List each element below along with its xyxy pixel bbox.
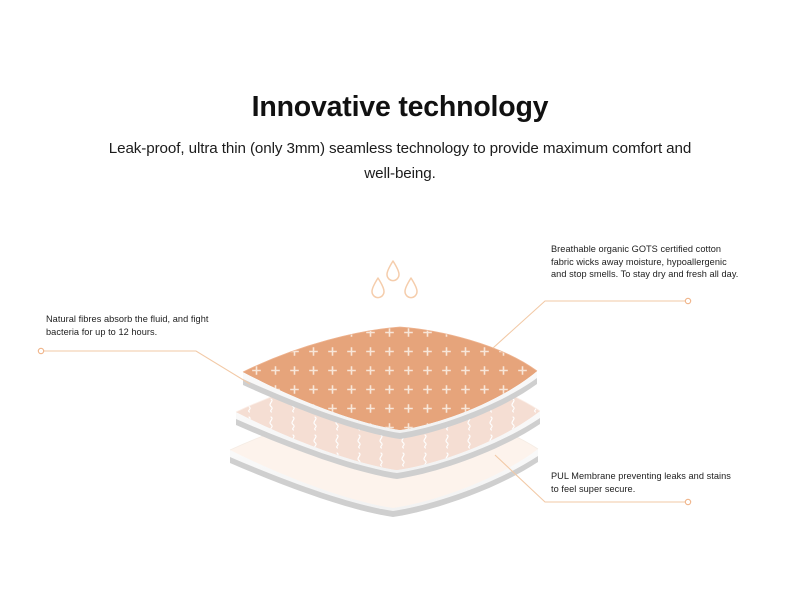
leader-marker-natural-fibres bbox=[38, 348, 43, 353]
leader-line-breathable-cotton bbox=[493, 301, 685, 348]
annotation-pul-membrane: PUL Membrane preventing leaks and stains… bbox=[551, 470, 741, 495]
leader-marker-pul-membrane bbox=[685, 499, 690, 504]
illustration-page: Innovative technology Leak-proof, ultra … bbox=[0, 0, 800, 602]
page-subtitle: Leak-proof, ultra thin (only 3mm) seamle… bbox=[95, 136, 705, 186]
annotation-natural-fibres: Natural fibres absorb the fluid, and fig… bbox=[46, 313, 236, 338]
annotation-breathable-cotton: Breathable organic GOTS certified cotton… bbox=[551, 243, 741, 281]
absorbent-fibre-layer bbox=[230, 360, 550, 480]
header: Innovative technology Leak-proof, ultra … bbox=[0, 88, 800, 186]
pul-membrane-layer bbox=[230, 405, 538, 517]
droplet-icon bbox=[387, 261, 399, 281]
water-droplets bbox=[372, 261, 417, 298]
droplet-icon bbox=[372, 278, 384, 298]
cotton-fabric-layer bbox=[238, 320, 546, 439]
squiggle-texture bbox=[230, 360, 550, 480]
leader-line-natural-fibres bbox=[44, 351, 250, 384]
leader-marker-breathable-cotton bbox=[685, 298, 690, 303]
droplet-icon bbox=[405, 278, 417, 298]
cross-texture bbox=[238, 320, 546, 438]
page-title: Innovative technology bbox=[0, 88, 800, 126]
